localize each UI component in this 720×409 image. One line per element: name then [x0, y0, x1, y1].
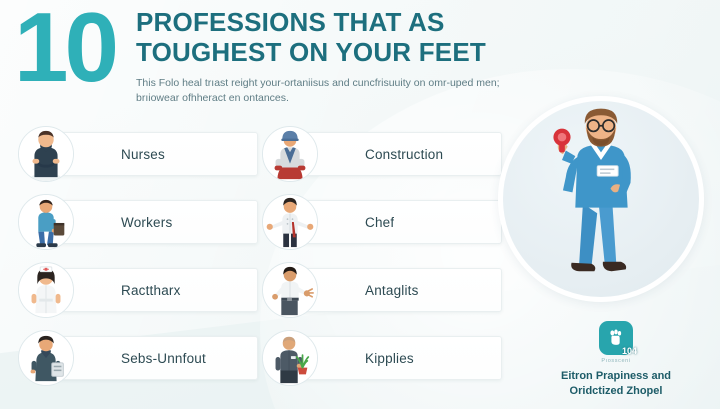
badge-count: 104 [622, 346, 637, 356]
profession-label: Nurses [121, 147, 165, 162]
avatar-nurse-clipboard-icon [18, 330, 74, 386]
profession-card[interactable]: Sebs-Unnfout [44, 336, 258, 380]
list-item[interactable]: Racttharx [18, 262, 258, 318]
profession-card[interactable]: Nurses [44, 132, 258, 176]
profession-card[interactable]: Workers [44, 200, 258, 244]
profession-card[interactable]: Construction [288, 132, 502, 176]
rank-number: 10 [14, 0, 115, 96]
hero-illustration [498, 96, 704, 302]
footer-caption-line-2: Oridctized Zhopel [526, 384, 706, 399]
avatar-man-plant-icon [262, 330, 318, 386]
right-column: Construction C [262, 126, 502, 398]
page-subtitle: This Folo heal trıast reight your-ortani… [136, 76, 511, 106]
list-item[interactable]: Workers [18, 194, 258, 250]
avatar-chef-arms-out-icon [262, 194, 318, 250]
list-item[interactable]: Antaglits [262, 262, 502, 318]
page-title-line-1: PROFESSIONS THAT AS [136, 8, 536, 38]
footer-caption-line-1: Eitron Prapiness and [526, 369, 706, 384]
footer: 104 Pıossceni Eitron Prapiness and Oridc… [526, 321, 706, 399]
profession-label: Sebs-Unnfout [121, 351, 206, 366]
page-title-line-2: TOUGHEST ON YOUR FEET [136, 38, 536, 68]
list-item[interactable]: Kipplies [262, 330, 502, 386]
profession-card[interactable]: Antaglits [288, 268, 502, 312]
avatar-construction-helmet-icon [262, 126, 318, 182]
header: 10 PROFESSIONS THAT AS TOUGHEST ON YOUR … [14, 4, 534, 122]
profession-label: Kipplies [365, 351, 414, 366]
list-item[interactable]: Chef [262, 194, 502, 250]
male-nurse-scrubs-illustration [503, 101, 699, 297]
title-block: PROFESSIONS THAT AS TOUGHEST ON YOUR FEE… [136, 8, 536, 107]
left-column: Nurses Workers [18, 126, 258, 398]
profession-label: Workers [121, 215, 172, 230]
profession-label: Chef [365, 215, 394, 230]
list-item[interactable]: Construction [262, 126, 502, 182]
badge-sublabel: Pıossceni [526, 358, 706, 364]
list-item[interactable]: Sebs-Unnfout [18, 330, 258, 386]
avatar-nurse-cap-icon [18, 262, 74, 318]
profession-card[interactable]: Chef [288, 200, 502, 244]
avatar-worker-walking-icon [18, 194, 74, 250]
profession-label: Racttharx [121, 283, 181, 298]
avatar-man-gesturing-icon [262, 262, 318, 318]
profession-card[interactable]: Racttharx [44, 268, 258, 312]
profession-list: Nurses Workers [0, 126, 500, 401]
profession-card[interactable]: Kipplies [288, 336, 502, 380]
profession-label: Construction [365, 147, 443, 162]
avatar-nurse-arms-crossed-icon [18, 126, 74, 182]
list-item[interactable]: Nurses [18, 126, 258, 182]
foot-boot-icon: 104 [599, 321, 633, 355]
profession-label: Antaglits [365, 283, 419, 298]
